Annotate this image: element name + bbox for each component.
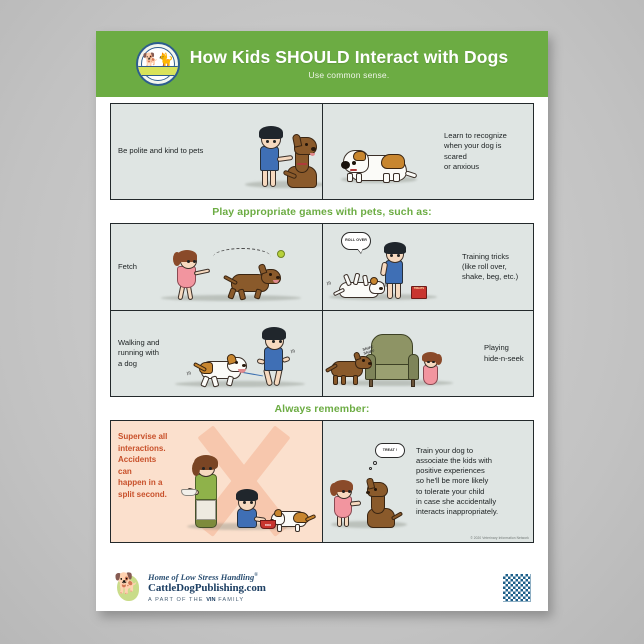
- footer-website[interactable]: CattleDogPublishing.com: [148, 582, 266, 596]
- qr-code-icon[interactable]: [502, 573, 532, 603]
- registered-mark: ®: [254, 573, 258, 578]
- panel-recognize-fear: Learn to recognize when your dog is scar…: [322, 104, 533, 199]
- art-girl-throwing-ball-to-dog: [153, 224, 322, 310]
- copyright-notice: © 2020 Veterinary Information Network: [470, 536, 529, 540]
- tennis-ball-icon: [277, 250, 285, 258]
- vin-brand: VIN: [206, 597, 215, 603]
- art-girl-and-dog-thinking-treat: TREAT !: [323, 421, 409, 542]
- panel-training-tricks: ROLL OVER: [322, 224, 533, 310]
- section-heading-remember: Always remember:: [110, 397, 534, 420]
- treats-box-prop: TREATS: [411, 286, 427, 299]
- panel-be-polite: Be polite and kind to pets: [111, 104, 322, 199]
- panel-caption: Train your dog to associate the kids wit…: [409, 446, 533, 518]
- footer-family-line: A PART OF THE VIN FAMILY: [148, 597, 266, 604]
- panel-caption: Walking and running with a dog: [111, 338, 169, 369]
- panel-caption: Learn to recognize when your dog is scar…: [437, 131, 533, 172]
- fear-free-badge-icon: 🐕🐈: [136, 42, 180, 86]
- footer-tagline: Home of Low Stress Handling®: [148, 572, 266, 583]
- art-boy-petting-brown-dog: [215, 104, 322, 199]
- art-dog-sniffing-armchair-girl-hiding: SNIFF SNIFF: [323, 311, 477, 396]
- poster: 🐕🐈 How Kids SHOULD Interact with Dogs Us…: [96, 31, 548, 611]
- panel-hide-n-seek: SNIFF SNIFF Playing hide-n-seek: [322, 311, 533, 396]
- dog-bowl-prop: FIDO: [260, 520, 276, 529]
- section-remember-panels: Supervise all interactions. Accidents ca…: [110, 420, 534, 543]
- panel-fetch: Fetch: [111, 224, 322, 310]
- panel-caption: Playing hide-n-seek: [477, 343, 533, 364]
- poster-header: 🐕🐈 How Kids SHOULD Interact with Dogs Us…: [96, 31, 548, 97]
- page-title: How Kids SHOULD Interact with Dogs: [190, 48, 508, 67]
- poster-footer: 🐕 Home of Low Stress Handling® CattleDog…: [96, 565, 548, 611]
- panel-walking-running: Walking and running with a dog: [111, 311, 322, 396]
- poster-body: Be polite and kind to pets: [96, 97, 548, 565]
- panel-caption: Fetch: [111, 262, 153, 272]
- art-boy-training-dog-roll-over: ROLL OVER: [323, 224, 455, 310]
- panel-caption: Supervise all interactions. Accidents ca…: [111, 431, 177, 501]
- thought-bubble-treat: TREAT !: [375, 443, 405, 458]
- speech-bubble-roll-over: ROLL OVER: [341, 232, 371, 250]
- art-crouching-anxious-dog: [323, 104, 437, 199]
- panel-train-positive-association: TREAT ! Train your dog to associate the …: [322, 421, 533, 542]
- art-boy-walking-dog-on-leash: ))) ))): [169, 311, 322, 396]
- panel-supervise-interactions: Supervise all interactions. Accidents ca…: [111, 421, 322, 542]
- page-subtitle: Use common sense.: [190, 70, 508, 80]
- section-basics-panels: Be polite and kind to pets: [110, 103, 534, 200]
- section-games-panels: Fetch: [110, 223, 534, 397]
- cattle-dog-logo-icon: 🐕: [112, 572, 140, 604]
- panel-caption: Be polite and kind to pets: [111, 146, 215, 156]
- art-mother-boy-dog-food-bowl: FIDO: [177, 421, 322, 542]
- panel-caption: Training tricks (like roll over, shake, …: [455, 252, 533, 283]
- section-heading-games: Play appropriate games with pets, such a…: [110, 200, 534, 223]
